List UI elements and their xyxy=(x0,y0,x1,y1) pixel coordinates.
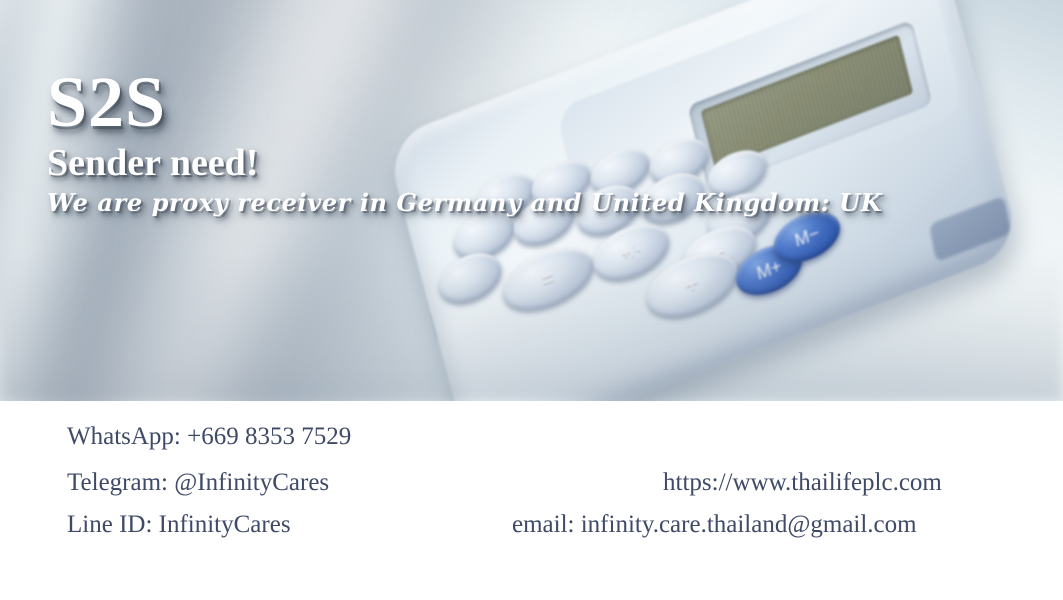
contact-email[interactable]: email: infinity.care.thailand@gmail.com xyxy=(512,511,917,539)
contact-whatsapp[interactable]: WhatsApp: +669 8353 7529 xyxy=(67,423,351,451)
headline-block: S2S Sender need! We are proxy receiver i… xyxy=(47,68,882,217)
contact-line-id[interactable]: Line ID: InfinityCares xyxy=(67,511,291,539)
promo-card: = +/- − + M+ M− S2S Sender need! We are … xyxy=(0,0,1063,600)
banner-tagline: We are proxy receiver in Germany and Uni… xyxy=(47,190,882,216)
contact-website[interactable]: https://www.thailifeplc.com xyxy=(663,469,942,497)
contact-footer: WhatsApp: +669 8353 7529 Telegram: @Infi… xyxy=(0,401,1063,600)
brand-title: S2S xyxy=(47,68,882,136)
hero-bottom-shading xyxy=(0,251,1063,401)
banner-subtitle: Sender need! xyxy=(47,144,882,184)
hero-banner: = +/- − + M+ M− S2S Sender need! We are … xyxy=(0,0,1063,401)
contact-telegram[interactable]: Telegram: @InfinityCares xyxy=(67,469,329,497)
